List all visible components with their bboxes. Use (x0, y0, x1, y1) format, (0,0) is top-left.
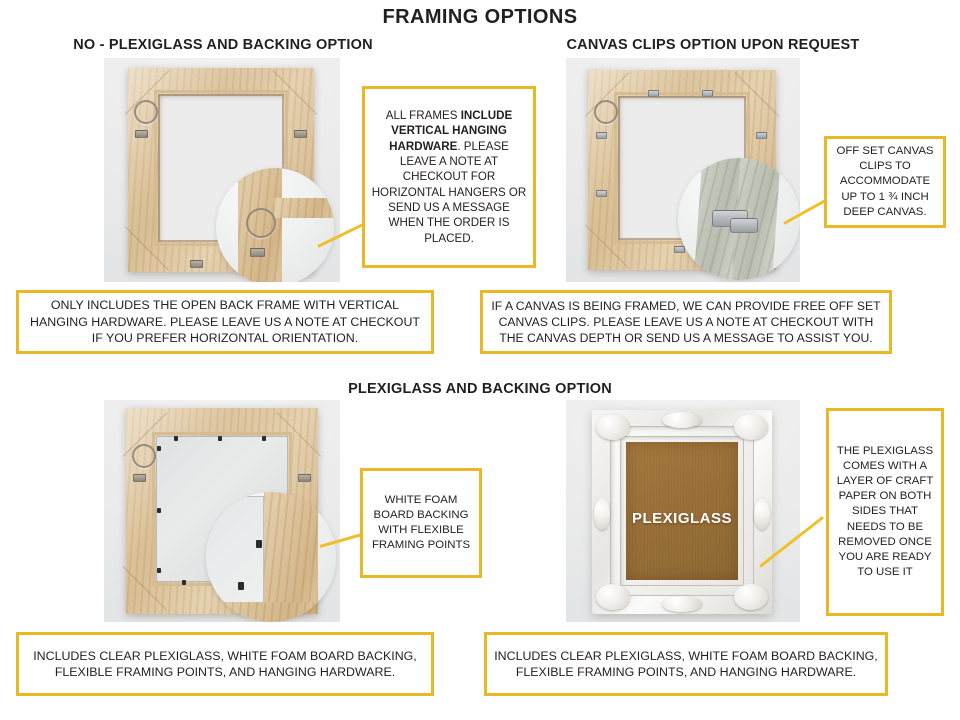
callout-vertical-hanging-hardware: ALL FRAMES INCLUDE VERTICAL HANGING HARD… (362, 86, 536, 268)
framing-point-left-upper (157, 446, 161, 451)
canvas-clip-top-left (648, 90, 659, 97)
caption-plexiglass-backing-right: INCLUDES CLEAR PLEXIGLASS, WHITE FOAM BO… (484, 632, 888, 696)
d-ring-hanger-icon (134, 100, 158, 124)
photo-plexiglass-foam-backing (104, 400, 340, 622)
canvas-clip-left-lower (596, 190, 607, 197)
framing-point-top-mid (218, 436, 222, 441)
hanger-plate-right-backing (298, 474, 311, 482)
plexiglass-photo-label: PLEXIGLASS (626, 510, 738, 527)
canvas-clip-left-upper (596, 132, 607, 139)
callout-craft-paper-removal: THE PLEXIGLASS COMES WITH A LAYER OF CRA… (826, 408, 944, 616)
caption-canvas-clips: IF A CANVAS IS BEING FRAMED, WE CAN PROV… (480, 290, 892, 354)
caption-text-backing-right: INCLUDES CLEAR PLEXIGLASS, WHITE FOAM BO… (487, 644, 885, 685)
callout-text-foam-board: WHITE FOAM BOARD BACKING WITH FLEXIBLE F… (363, 489, 479, 557)
callout-text-craft-paper: THE PLEXIGLASS COMES WITH A LAYER OF CRA… (829, 440, 941, 583)
caption-plexiglass-backing-left: INCLUDES CLEAR PLEXIGLASS, WHITE FOAM BO… (16, 632, 434, 696)
photo-open-back-frame (104, 58, 340, 282)
infographic-canvas: FRAMING OPTIONS NO - PLEXIGLASS AND BACK… (0, 0, 960, 720)
callout-offset-canvas-clips: OFF SET CANVAS CLIPS TO ACCOMMODATE UP T… (824, 136, 946, 228)
callout-text-plain-2: . PLEASE LEAVE A NOTE AT CHECKOUT FOR HO… (372, 140, 527, 245)
canvas-clip-right-upper (756, 132, 767, 139)
section-heading-no-plexiglass: NO - PLEXIGLASS AND BACKING OPTION (0, 37, 446, 53)
page-title: FRAMING OPTIONS (0, 6, 960, 29)
magnifier-detail-hanging-hardware (216, 168, 334, 282)
caption-open-back-frame: ONLY INCLUDES THE OPEN BACK FRAME WITH V… (16, 290, 434, 354)
caption-text-backing-left: INCLUDES CLEAR PLEXIGLASS, WHITE FOAM BO… (19, 644, 431, 685)
callout-white-foam-board: WHITE FOAM BOARD BACKING WITH FLEXIBLE F… (360, 468, 482, 578)
framing-point-left-lower (157, 568, 161, 573)
ornate-frame-graphic: PLEXIGLASS (592, 410, 772, 614)
magnifier-detail-foam-backing (206, 492, 336, 622)
hanger-plate-right (294, 130, 307, 138)
hanger-plate-left-backing (133, 474, 146, 482)
canvas-clip-bottom (674, 246, 685, 253)
photo-ornate-frame-craft-paper: PLEXIGLASS (566, 400, 800, 622)
hanger-plate-left (135, 130, 148, 138)
framing-point-bottom (182, 580, 186, 585)
canvas-clip-top-right (702, 90, 713, 97)
photo-canvas-clips-frame (566, 58, 800, 282)
d-ring-hanger-icon-backing (132, 444, 156, 468)
section-heading-plexiglass-backing: PLEXIGLASS AND BACKING OPTION (0, 381, 960, 397)
callout-text-plain-1: ALL FRAMES (386, 109, 461, 122)
caption-text-open-back: ONLY INCLUDES THE OPEN BACK FRAME WITH V… (19, 293, 431, 350)
section-heading-canvas-clips: CANVAS CLIPS OPTION UPON REQUEST (466, 37, 960, 53)
magnifier-detail-canvas-clip (678, 158, 800, 280)
d-ring-hanger-icon-clips (594, 100, 618, 124)
caption-text-canvas-clips: IF A CANVAS IS BEING FRAMED, WE CAN PROV… (483, 294, 889, 350)
craft-paper-surface: PLEXIGLASS (626, 442, 738, 580)
hanger-plate-bottom (190, 260, 203, 268)
framing-point-top-left (174, 436, 178, 441)
framing-point-top-right (262, 436, 266, 441)
callout-text-canvas-clips: OFF SET CANVAS CLIPS TO ACCOMMODATE UP T… (827, 140, 943, 223)
framing-point-left-mid (157, 508, 161, 513)
